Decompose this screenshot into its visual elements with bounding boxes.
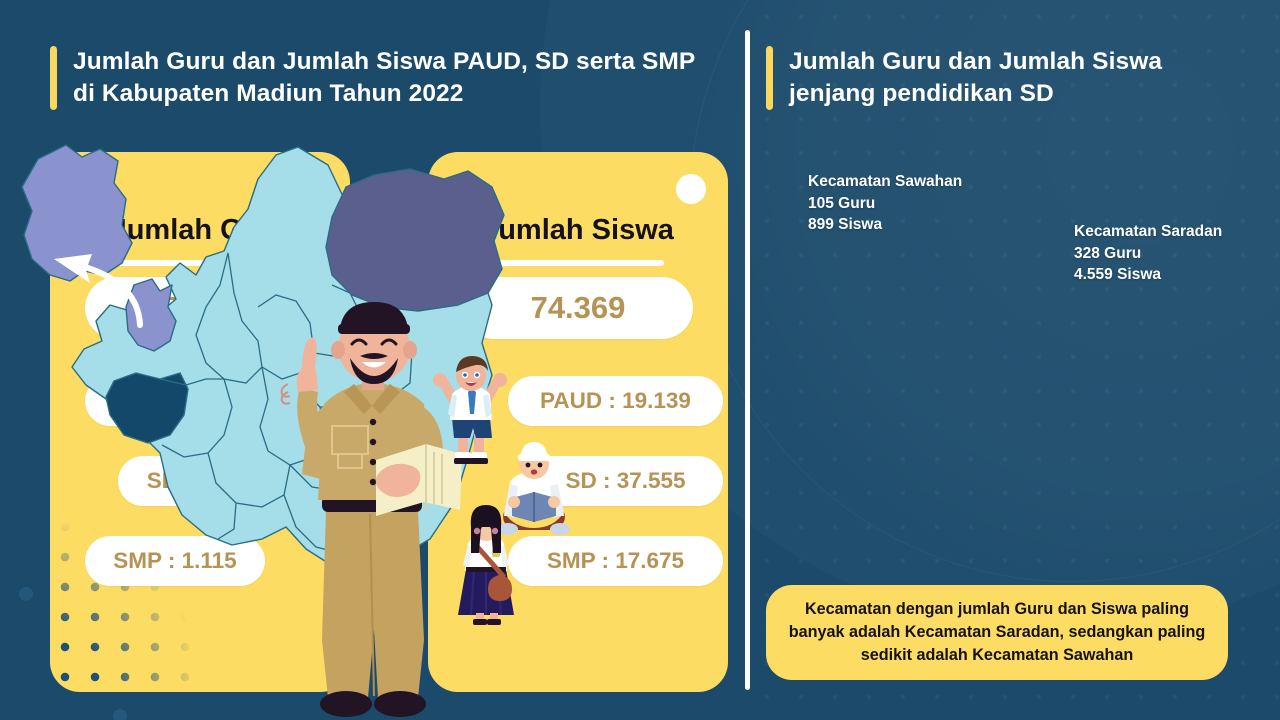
map-label-sawahan-guru: 105 Guru bbox=[808, 193, 962, 215]
title-accent-bar bbox=[50, 46, 57, 110]
map-label-saradan: Kecamatan Saradan 328 Guru 4.559 Siswa bbox=[1074, 221, 1222, 286]
siswa-smp-value: SMP : 17.675 bbox=[508, 536, 723, 586]
map-label-saradan-guru: 328 Guru bbox=[1074, 243, 1222, 265]
map-region-saradan bbox=[326, 169, 504, 311]
infographic-canvas: Jumlah Guru dan Jumlah Siswa PAUD, SD se… bbox=[0, 0, 1280, 720]
right-panel-title: Jumlah Guru dan Jumlah Siswa jenjang pen… bbox=[789, 46, 1236, 110]
card-hole-right-icon bbox=[676, 174, 706, 204]
left-panel-title-block: Jumlah Guru dan Jumlah Siswa PAUD, SD se… bbox=[50, 46, 710, 110]
map-label-saradan-name: Kecamatan Saradan bbox=[1074, 221, 1222, 243]
map-label-sawahan: Kecamatan Sawahan 105 Guru 899 Siswa bbox=[808, 171, 962, 236]
map-label-sawahan-siswa: 899 Siswa bbox=[808, 214, 962, 236]
left-panel-title: Jumlah Guru dan Jumlah Siswa PAUD, SD se… bbox=[73, 46, 710, 110]
right-panel-title-block: Jumlah Guru dan Jumlah Siswa jenjang pen… bbox=[766, 46, 1236, 110]
summary-callout: Kecamatan dengan jumlah Guru dan Siswa p… bbox=[766, 585, 1228, 680]
title-accent-bar bbox=[766, 46, 773, 110]
map-label-sawahan-name: Kecamatan Sawahan bbox=[808, 171, 962, 193]
siswa-paud-value: PAUD : 19.139 bbox=[508, 376, 723, 426]
girl-student-illustration bbox=[444, 505, 528, 627]
map-label-saradan-siswa: 4.559 Siswa bbox=[1074, 264, 1222, 286]
